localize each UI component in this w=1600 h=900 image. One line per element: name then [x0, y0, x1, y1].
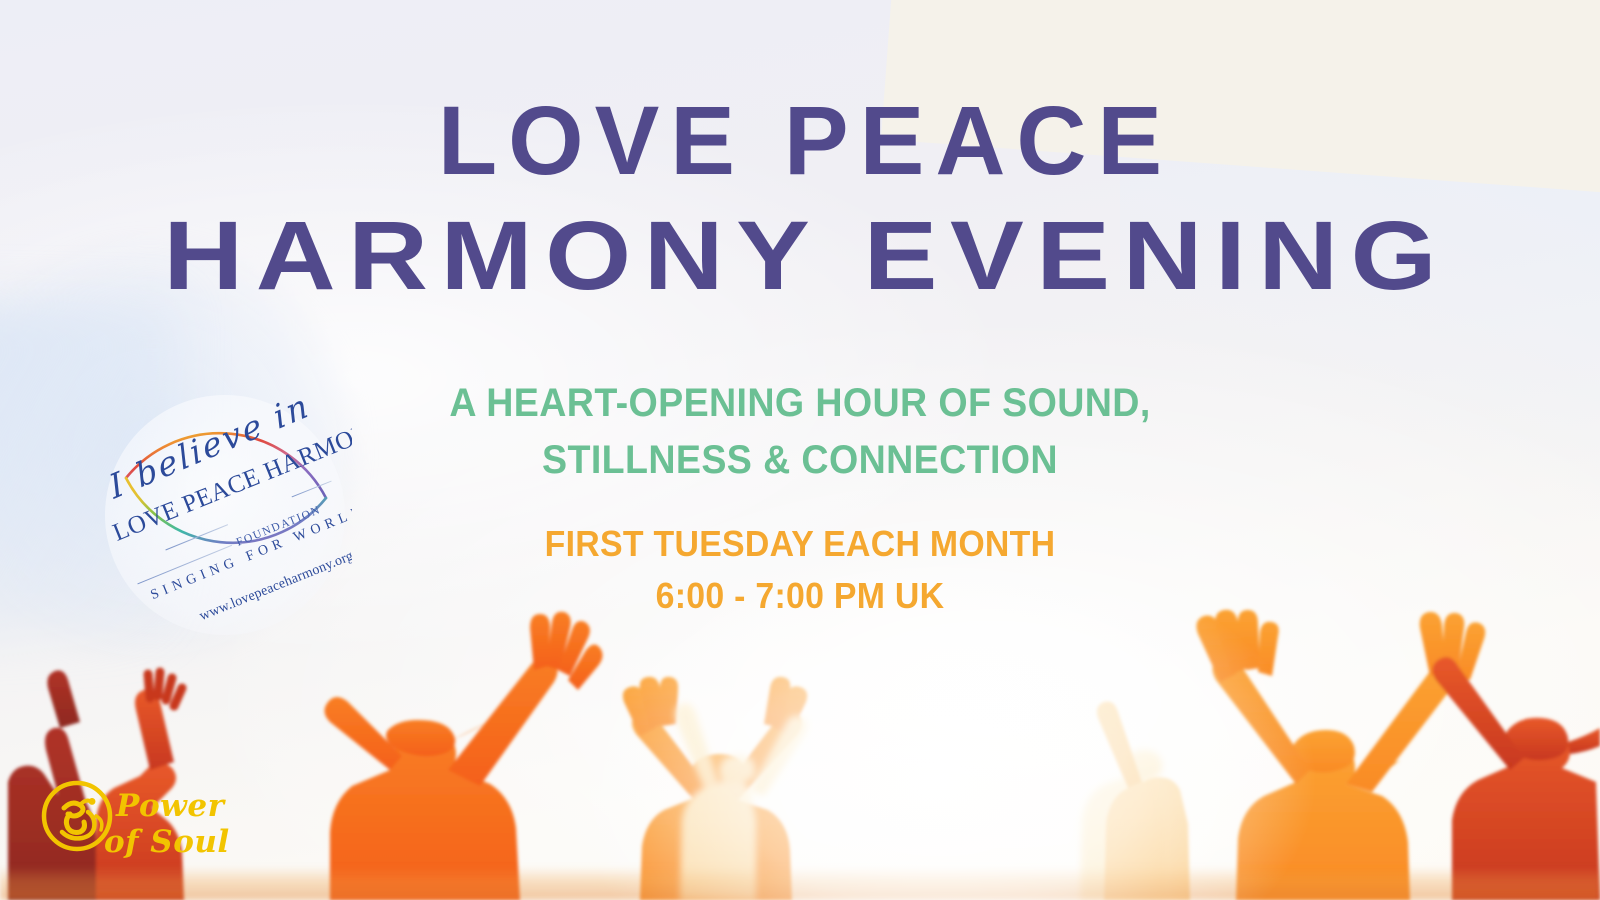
- page-title-line-1: LOVE PEACE: [0, 92, 1600, 189]
- schedule-date: FIRST TUESDAY EACH MONTH: [330, 518, 1270, 570]
- subtitle-line-2: STILLNESS & CONNECTION: [330, 432, 1270, 489]
- horizon-glow: [0, 866, 1600, 900]
- power-of-soul-line-2: of Soul: [104, 824, 230, 860]
- power-of-soul-line-1: Power: [115, 788, 227, 824]
- love-peace-harmony-logo: I believe in LOVE PEACE HARMONY FOUNDATI…: [98, 388, 352, 642]
- headline-block: LOVE PEACE HARMONY EVENING: [0, 92, 1600, 304]
- subtitle-line-1: A HEART-OPENING HOUR OF SOUND,: [330, 375, 1270, 432]
- om-symbol: [44, 783, 110, 849]
- subtitle-block: A HEART-OPENING HOUR OF SOUND, STILLNESS…: [330, 375, 1270, 489]
- page-title-line-2: HARMONY EVENING: [0, 207, 1600, 304]
- schedule-block: FIRST TUESDAY EACH MONTH 6:00 - 7:00 PM …: [330, 518, 1270, 622]
- schedule-time: 6:00 - 7:00 PM UK: [330, 570, 1270, 622]
- poster-canvas: LOVE PEACE HARMONY EVENING A HEART-OPENI…: [0, 0, 1600, 900]
- power-of-soul-logo: Power of Soul: [34, 772, 234, 864]
